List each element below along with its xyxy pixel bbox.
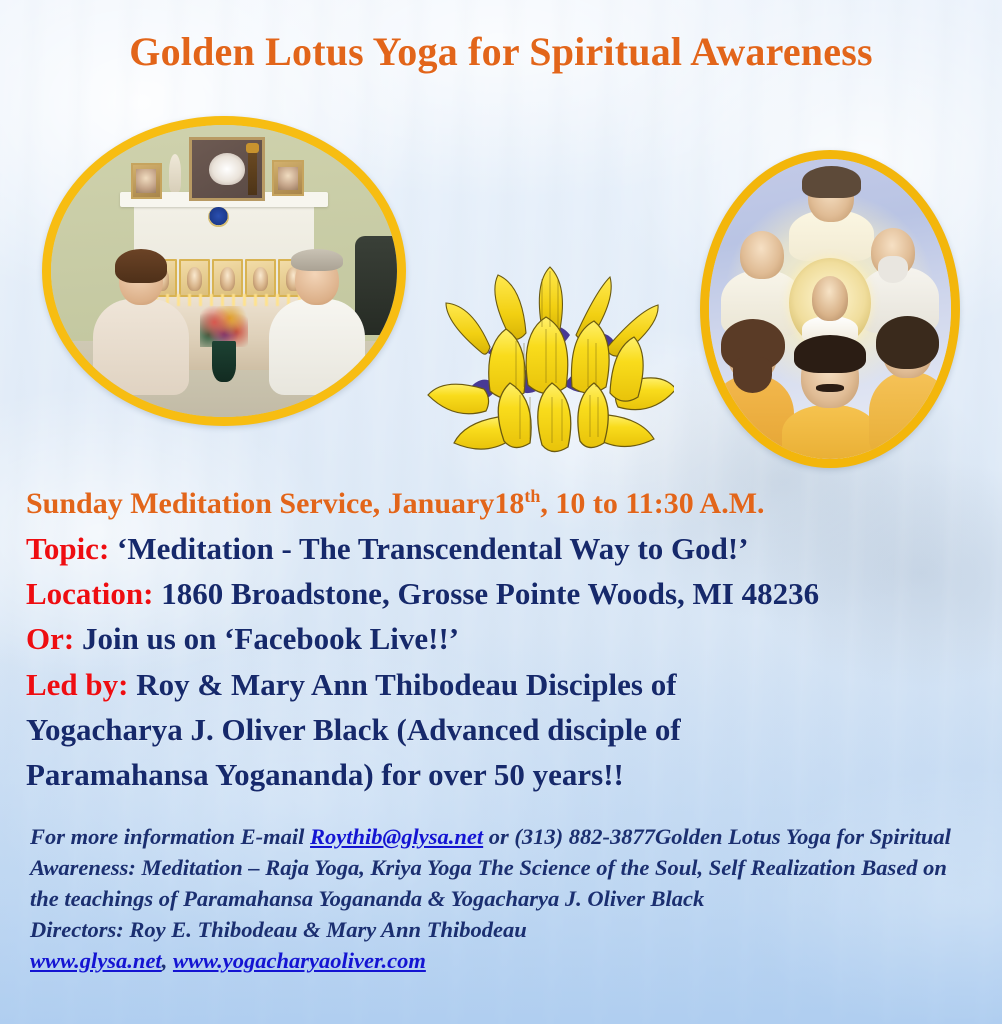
guru-robe-bottom-center [782, 405, 879, 465]
person-mary-ann [86, 255, 196, 405]
location-line: Location: 1860 Broadstone, Grosse Pointe… [26, 571, 978, 616]
person-body [269, 299, 365, 395]
golden-lotus-icon [424, 245, 674, 455]
person-body [93, 299, 189, 395]
topic-line: Topic: ‘Meditation - The Transcendental … [26, 526, 978, 571]
person-hair [115, 249, 167, 283]
contact-intro: For more information E-mail [30, 824, 310, 849]
guru-face-jesus [728, 327, 776, 381]
mantel-statue [169, 154, 181, 192]
location-label: Location: [26, 576, 153, 611]
or-label: Or: [26, 621, 74, 656]
flower-vase [212, 341, 236, 382]
topic-value: ‘Meditation - The Transcendental Way to … [117, 531, 749, 566]
or-line: Or: Join us on ‘Facebook Live!!’ [26, 616, 978, 661]
service-ordinal: th [524, 486, 540, 506]
guru-face-krishna [883, 324, 931, 378]
page-title: Golden Lotus Yoga for Spiritual Awarenes… [129, 28, 872, 75]
flyer-canvas: Golden Lotus Yoga for Spiritual Awarenes… [0, 0, 1002, 1024]
led-by-line-3: Paramahansa Yogananda) for over 50 years… [26, 752, 978, 797]
person-roy [261, 255, 373, 405]
website-line: www.glysa.net, www.yogacharyaoliver.com [30, 946, 970, 977]
guru-lineage-inner [709, 159, 951, 459]
topic-label: Topic: [26, 531, 109, 566]
mantel-photo-right [272, 160, 304, 196]
guru-face-lahiri [740, 231, 784, 279]
service-day: 18 [494, 487, 524, 520]
led-by-line-2: Yogacharya J. Oliver Black (Advanced dis… [26, 707, 978, 752]
phone-text: or (313) 882-3877 [483, 824, 655, 849]
guru-face-babaji [808, 171, 854, 222]
website-link-glysa[interactable]: www.glysa.net [30, 948, 162, 973]
directors-line: Directors: Roy E. Thibodeau & Mary Ann T… [30, 915, 970, 946]
mantel-photo-left [131, 163, 163, 199]
led-by-value-1: Roy & Mary Ann Thibodeau Disciples of [136, 667, 676, 702]
service-line: Sunday Meditation Service, January18th, … [26, 482, 978, 526]
email-link[interactable]: Roythib@glysa.net [310, 824, 483, 849]
led-by-value-3: Paramahansa Yogananda) for over 50 years… [26, 757, 624, 792]
guru-picture [212, 259, 243, 297]
led-by-value-2: Yogacharya J. Oliver Black (Advanced dis… [26, 712, 681, 747]
person-hair [291, 249, 343, 271]
guru-lineage-photo [700, 150, 960, 468]
altar-photo-inner [51, 125, 397, 417]
footer-block: For more information E-mail Roythib@glys… [30, 822, 970, 977]
led-by-label: Led by: [26, 667, 129, 702]
footer-paragraph: For more information E-mail Roythib@glys… [30, 822, 970, 914]
title-area: Golden Lotus Yoga for Spiritual Awarenes… [0, 28, 1002, 75]
media-row [0, 110, 1002, 430]
website-separator: , [162, 948, 173, 973]
guru-robe-bottom-right [869, 372, 951, 459]
service-prefix: Sunday Meditation Service, January [26, 487, 494, 520]
service-suffix: , 10 to 11:30 A.M. [540, 487, 764, 520]
location-value: 1860 Broadstone, Grosse Pointe Woods, MI… [161, 576, 819, 611]
guru-face-yukteswar [871, 228, 915, 276]
details-block: Sunday Meditation Service, January18th, … [26, 482, 978, 797]
led-by-line-1: Led by: Roy & Mary Ann Thibodeau Discipl… [26, 662, 978, 707]
or-value: Join us on ‘Facebook Live!!’ [82, 621, 459, 656]
website-link-yogacharyaoliver[interactable]: www.yogacharyaoliver.com [173, 948, 426, 973]
mantel-candle [248, 151, 256, 195]
guru-face-yogananda [801, 345, 859, 408]
altar-photo [42, 116, 406, 426]
org-description: Meditation – Raja Yoga, Kriya Yoga The S… [30, 855, 947, 911]
